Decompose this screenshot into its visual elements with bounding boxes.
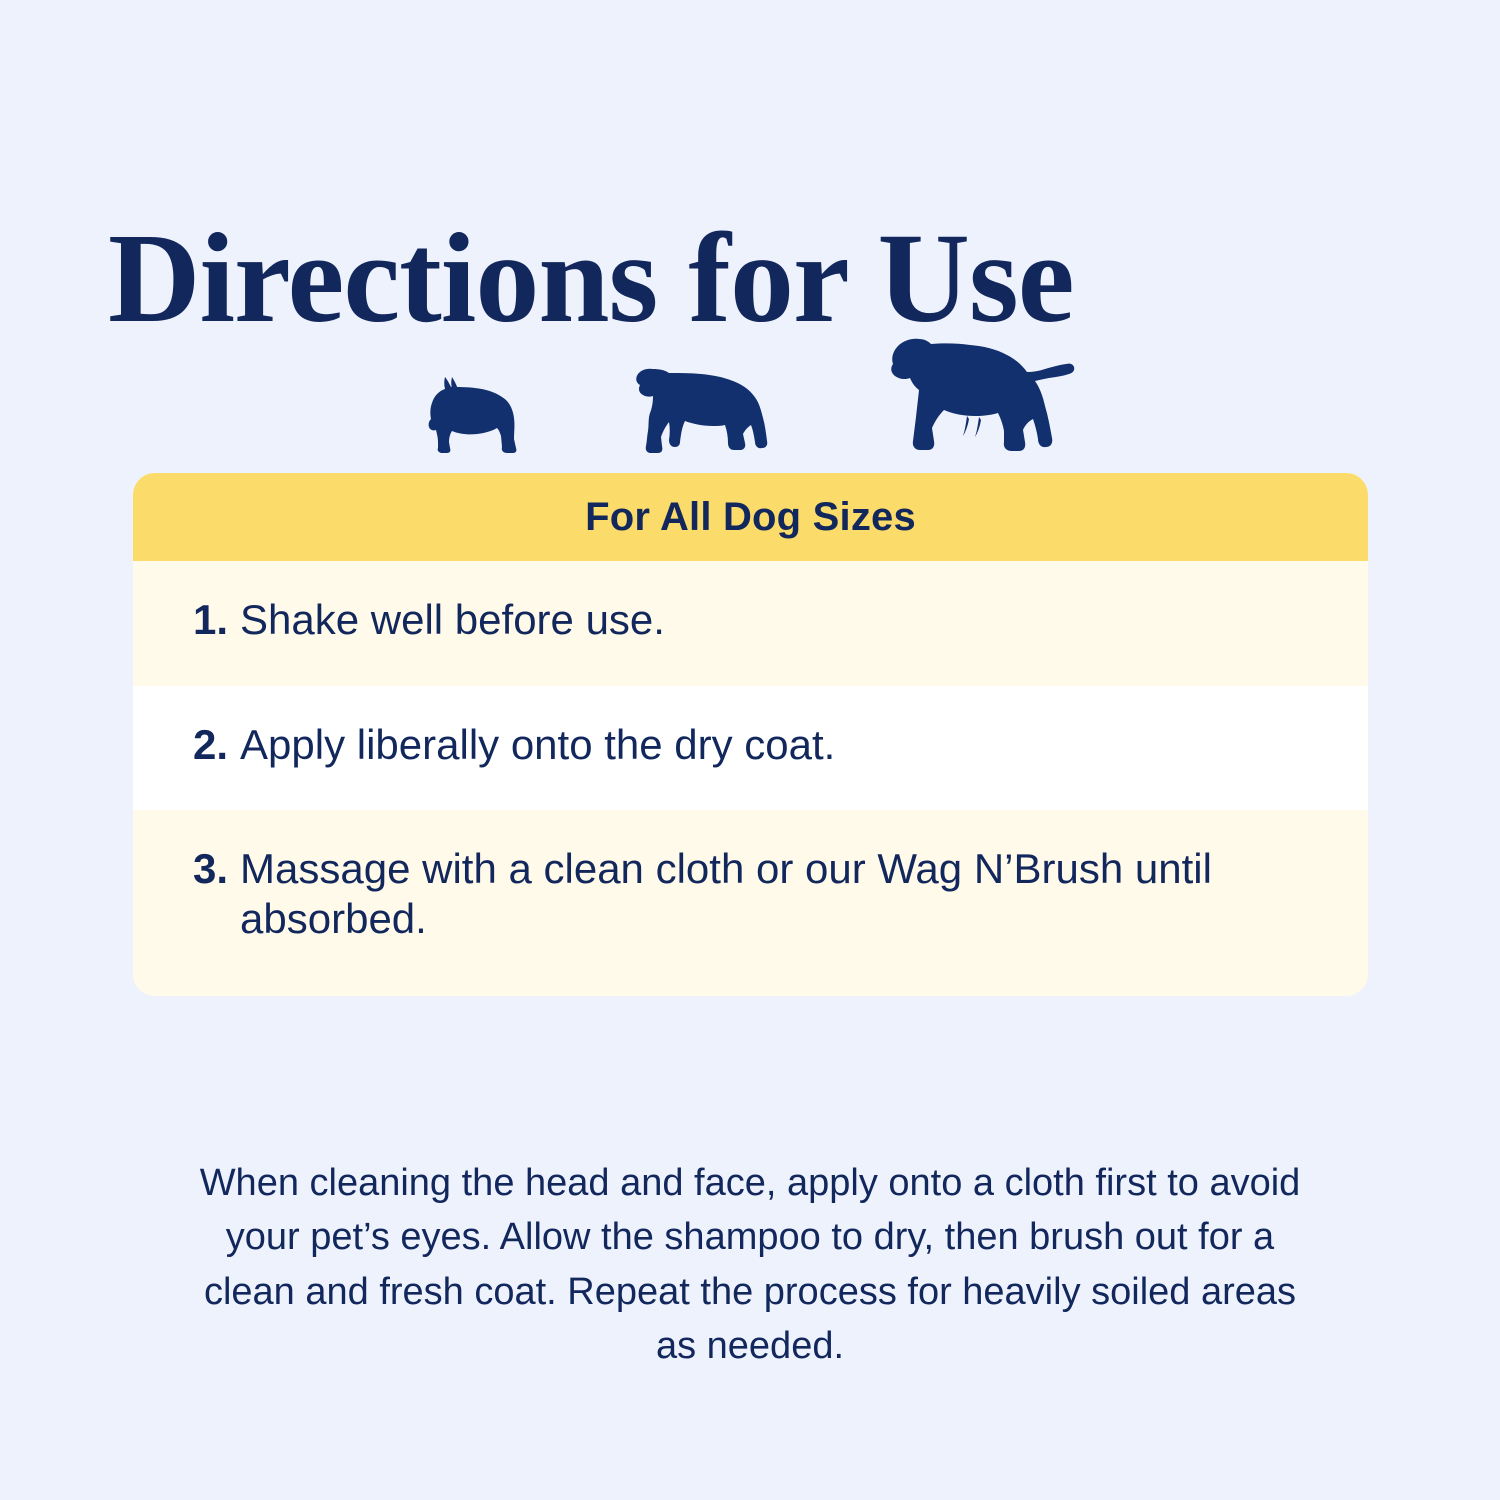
list-item: 3. Massage with a clean cloth or our Wag… bbox=[133, 810, 1368, 996]
step-text: Apply liberally onto the dry coat. bbox=[240, 720, 835, 770]
small-dog-silhouette bbox=[425, 377, 523, 455]
step-number: 2. bbox=[193, 720, 228, 770]
dog-size-illustrations bbox=[0, 305, 1500, 455]
directions-step-list: 1. Shake well before use. 2. Apply liber… bbox=[133, 561, 1368, 996]
step-text: Shake well before use. bbox=[240, 595, 665, 645]
directions-for-use-page: Directions for Use For All Dog Sizes 1. … bbox=[0, 0, 1500, 1500]
list-item: 2. Apply liberally onto the dry coat. bbox=[133, 686, 1368, 810]
large-dog-silhouette bbox=[889, 327, 1075, 455]
directions-card: For All Dog Sizes 1. Shake well before u… bbox=[133, 473, 1368, 996]
medium-dog-silhouette bbox=[635, 351, 777, 455]
step-text: Massage with a clean cloth or our Wag N’… bbox=[240, 844, 1295, 943]
step-number: 1. bbox=[193, 595, 228, 645]
list-item: 1. Shake well before use. bbox=[133, 561, 1368, 686]
step-number: 3. bbox=[193, 844, 228, 894]
card-header: For All Dog Sizes bbox=[133, 473, 1368, 561]
footer-note: When cleaning the head and face, apply o… bbox=[190, 1156, 1310, 1373]
card-header-title: For All Dog Sizes bbox=[585, 495, 916, 540]
